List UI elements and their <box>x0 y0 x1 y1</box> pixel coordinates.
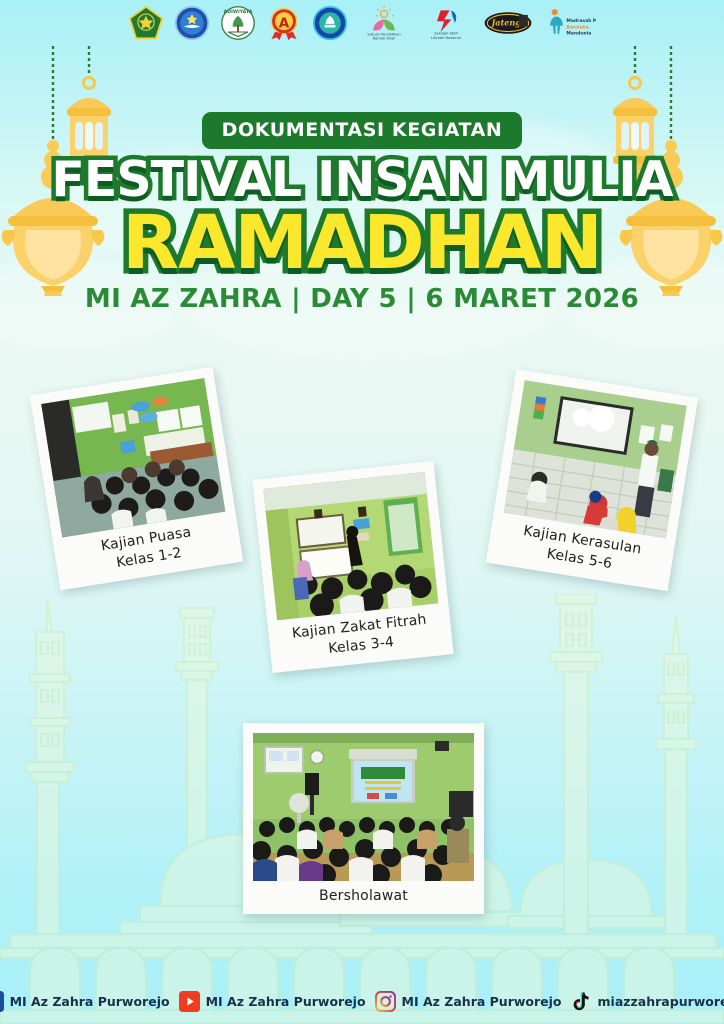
poster-canvas: ADIWIYATA A Satuan Pendidikan Ramah Anak <box>0 0 724 1024</box>
social-handle: miazzahrapurworejo <box>598 994 724 1009</box>
social-handle: MI Az Zahra Purworejo <box>206 994 366 1009</box>
headline-block: DOKUMENTASI KEGIATAN FESTIVAL INSAN MULI… <box>0 112 724 314</box>
photo-kajian-zakat-fitrah <box>263 472 438 620</box>
facebook-icon[interactable] <box>0 991 4 1012</box>
svg-text:A: A <box>279 16 290 32</box>
svg-text:Bermutu,: Bermutu, <box>566 24 590 30</box>
youtube-icon[interactable] <box>179 991 200 1012</box>
page-title-ramadhan: RAMADHAN <box>0 206 724 280</box>
svg-text:Mendunia: Mendunia <box>566 31 591 37</box>
mi-az-zahra-logo <box>312 5 348 41</box>
social-item-facebook[interactable]: MI Az Zahra Purworejo <box>0 991 170 1012</box>
social-item-instagram[interactable]: MI Az Zahra Purworejo <box>375 991 562 1012</box>
madrasah-maju-bermutu-mendunia-logo: Madrasah Maju, Bermutu, Mendunia <box>544 5 596 41</box>
caption-line-1: Bersholawat <box>255 887 472 906</box>
badge-dokumentasi-kegiatan: DOKUMENTASI KEGIATAN <box>202 112 523 149</box>
photo-card-kajian-zakat-fitrah[interactable]: Kajian Zakat Fitrah Kelas 3-4 <box>252 461 453 673</box>
photo-card-kajian-puasa[interactable]: Kajian Puasa Kelas 1-2 <box>30 367 244 590</box>
svg-text:Madrasah Maju,: Madrasah Maju, <box>566 18 596 24</box>
social-item-youtube[interactable]: MI Az Zahra Purworejo <box>179 991 366 1012</box>
tiktok-icon[interactable] <box>571 991 592 1012</box>
social-media-bar: MI Az Zahra Purworejo MI Az Zahra Purwor… <box>0 986 724 1016</box>
adiwiyata-logo: ADIWIYATA <box>220 5 256 41</box>
satuan-pendidikan-ramah-anak-logo: Satuan Pendidikan Ramah Anak <box>358 5 410 41</box>
page-subtitle: MI AZ ZAHRA | DAY 5 | 6 MARET 2026 <box>0 284 724 314</box>
akreditasi-a-logo: A <box>266 5 302 41</box>
photo-bersholawat <box>253 733 474 881</box>
svg-text:Literasi Nasional: Literasi Nasional <box>431 36 461 40</box>
social-handle: MI Az Zahra Purworejo <box>402 994 562 1009</box>
jawa-tengah-logo: Jateng <box>482 5 534 41</box>
sekolah-aktif-literasi-nasional-logo: Sekolah Aktif Literasi Nasional <box>420 5 472 41</box>
photo-card-kajian-kerasulan[interactable]: Kajian Kerasulan Kelas 5-6 <box>486 369 698 591</box>
photo-kajian-puasa <box>41 378 225 537</box>
page-title: FESTIVAL INSAN MULIA <box>0 156 724 204</box>
social-handle: MI Az Zahra Purworejo <box>10 994 170 1009</box>
photo-caption: Bersholawat <box>253 881 474 914</box>
svg-text:Ramah Anak: Ramah Anak <box>373 37 397 41</box>
svg-text:ADIWIYATA: ADIWIYATA <box>224 9 253 15</box>
social-item-tiktok[interactable]: miazzahrapurworejo <box>571 991 724 1012</box>
sekolah-logo <box>174 5 210 41</box>
instagram-icon[interactable] <box>375 991 396 1012</box>
photo-card-bersholawat[interactable]: Bersholawat <box>243 723 484 914</box>
svg-text:Jateng: Jateng <box>489 18 521 28</box>
photo-kajian-kerasulan <box>504 380 687 538</box>
kemenag-logo <box>128 5 164 41</box>
partner-logos-row: ADIWIYATA A Satuan Pendidikan Ramah Anak <box>0 0 724 46</box>
